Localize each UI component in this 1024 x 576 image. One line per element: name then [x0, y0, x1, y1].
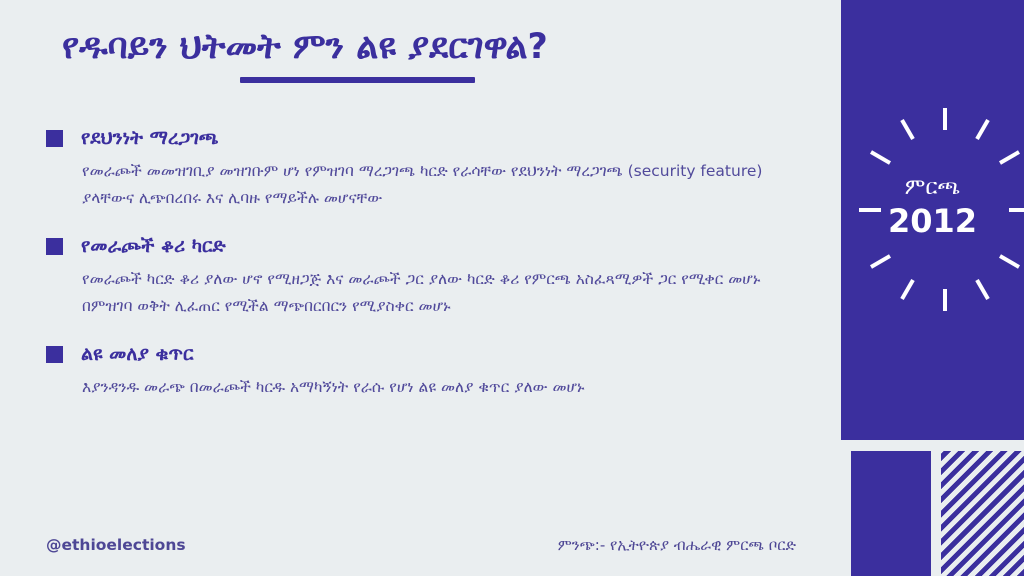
bullet-title: የደህንነት ማረጋገጫ: [81, 128, 219, 149]
footer: @ethioelections ምንጭ:- የኢትዮጵያ ብሔራዊ ምርጫ ቦር…: [46, 536, 796, 554]
striped-square-decoration: [941, 451, 1024, 576]
square-bullet-icon: [46, 130, 63, 147]
bullet-body-text: የመራጮች ካርድ ቆሪ ያለው ሆኖ የሚዘጋጅ እና መራጮች ጋር ያለው…: [82, 266, 802, 320]
badge-label: ምርጫ: [841, 176, 1024, 200]
solid-square-decoration: [851, 451, 931, 576]
bullet-group-2: የመራጮች ቆሪ ካርድ የመራጮች ካርድ ቆሪ ያለው ሆኖ የሚዘጋጅ እ…: [46, 236, 806, 320]
bullet-body-text: የመራጮች መመዝገቢያ መዝገቡም ሆነ የምዝገባ ማረጋገጫ ካርድ የራ…: [82, 158, 802, 212]
main-content: የዱባይን ህትመት ምን ልዩ ያደርገዋል? የደህንነት ማረጋገጫ የመ…: [0, 0, 841, 576]
election-badge: ምርጫ 2012: [841, 176, 1024, 239]
bullet-title: ልዩ መለያ ቁጥር: [81, 344, 193, 365]
bullet-title: የመራጮች ቆሪ ካርድ: [81, 236, 226, 257]
title-underline-rule: [240, 77, 475, 83]
bullet-heading-row: የደህንነት ማረጋገጫ: [46, 128, 806, 149]
bottom-decoration: [841, 451, 1024, 576]
bullet-body-text: እያንዳንዱ መራጭ በመራጮች ካርዱ አማካኝነት የራሱ የሆነ ልዩ መ…: [82, 374, 802, 401]
badge-year: 2012: [841, 204, 1024, 239]
bullet-group-1: የደህንነት ማረጋገጫ የመራጮች መመዝገቢያ መዝገቡም ሆነ የምዝገባ…: [46, 128, 806, 212]
bullet-heading-row: የመራጮች ቆሪ ካርድ: [46, 236, 806, 257]
bullet-list: የደህንነት ማረጋገጫ የመራጮች መመዝገቢያ መዝገቡም ሆነ የምዝገባ…: [46, 128, 806, 401]
bullet-heading-row: ልዩ መለያ ቁጥር: [46, 344, 806, 365]
right-sidebar: ምርጫ 2012: [841, 0, 1024, 576]
title-block: የዱባይን ህትመት ምን ልዩ ያደርገዋል?: [62, 26, 802, 83]
square-bullet-icon: [46, 238, 63, 255]
social-handle: @ethioelections: [46, 536, 186, 554]
square-bullet-icon: [46, 346, 63, 363]
page-title: የዱባይን ህትመት ምን ልዩ ያደርገዋል?: [62, 26, 802, 70]
bullet-group-3: ልዩ መለያ ቁጥር እያንዳንዱ መራጭ በመራጮች ካርዱ አማካኝነት የ…: [46, 344, 806, 401]
slide: የዱባይን ህትመት ምን ልዩ ያደርገዋል? የደህንነት ማረጋገጫ የመ…: [0, 0, 1024, 576]
source-credit: ምንጭ:- የኢትዮጵያ ብሔራዊ ምርጫ ቦርድ: [558, 536, 796, 554]
